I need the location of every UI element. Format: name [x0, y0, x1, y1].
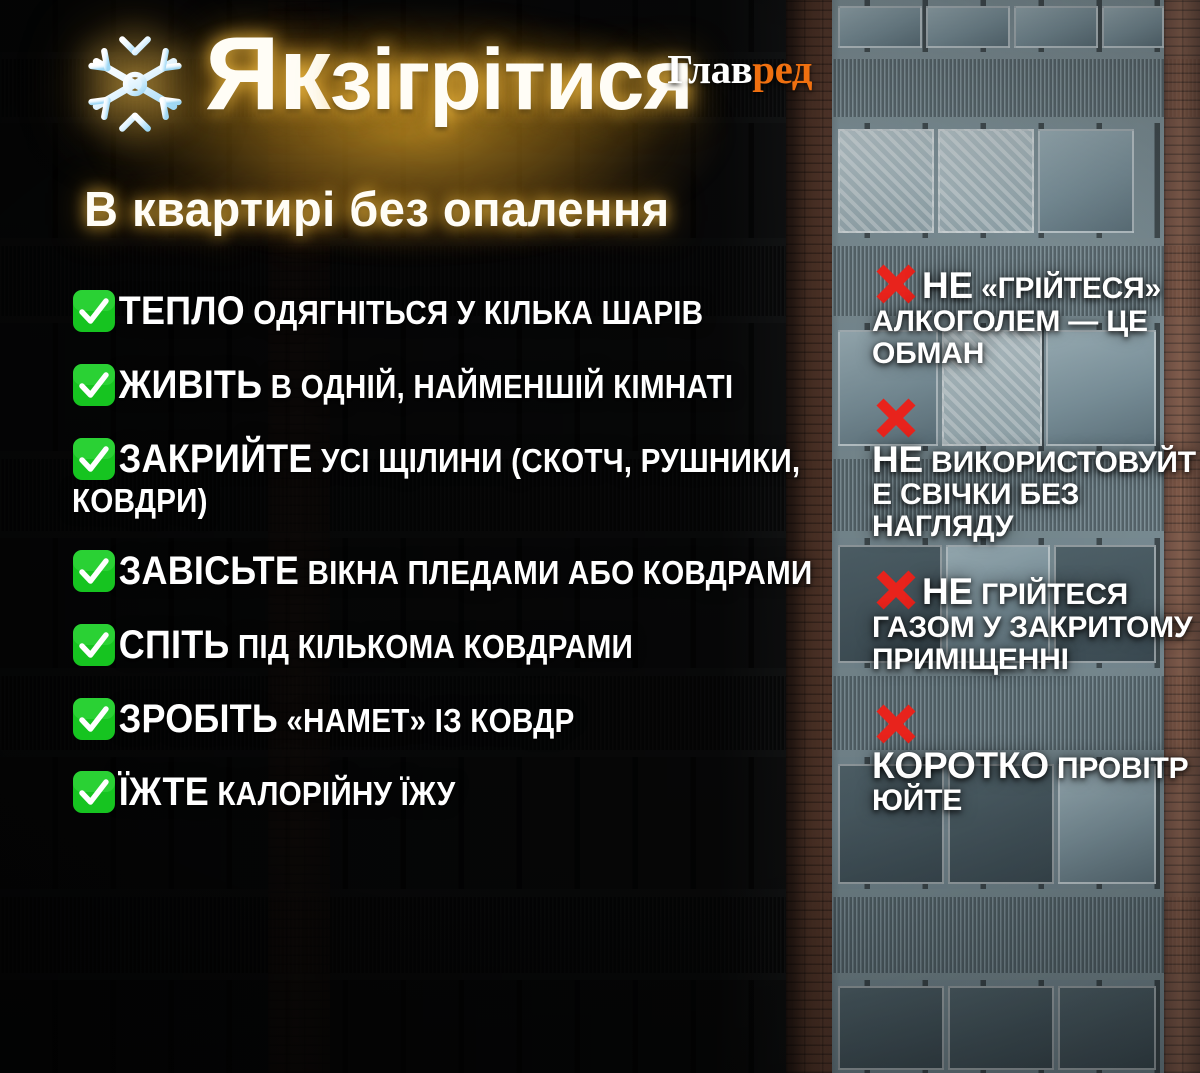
title-rest: зігрітися	[330, 32, 693, 128]
cross-mark-icon	[872, 396, 920, 440]
check-mark-button-icon	[72, 437, 116, 481]
list-item: Завісьте вікна пледами або ковдрами	[72, 548, 862, 595]
infographic-poster: Якзігрітися В квартирі без опалення Глав…	[0, 0, 1200, 1073]
item-lead: Зробіть	[119, 697, 278, 741]
item-rest: одягніться у кілька шарів	[253, 294, 703, 331]
cross-mark-icon	[872, 568, 920, 612]
check-mark-button-icon	[72, 549, 116, 593]
check-mark-button-icon	[72, 623, 116, 667]
do-list: Тепло одягніться у кілька шарів Живіть в…	[72, 288, 862, 843]
list-item: Не використовуйте свічки без нагляду	[872, 396, 1200, 543]
item-lead: Тепло	[119, 289, 245, 333]
item-rest: в одній, найменшій кімнаті	[271, 368, 734, 405]
check-mark-button-icon	[72, 289, 116, 333]
item-lead: Спіть	[119, 623, 230, 667]
check-mark-button-icon	[72, 363, 116, 407]
logo-text-orange: ред	[752, 46, 812, 92]
list-item: Тепло одягніться у кілька шарів	[72, 288, 862, 335]
page-title: Якзігрітися	[205, 22, 693, 126]
item-lead: Завісьте	[119, 549, 299, 593]
item-lead: Закрийте	[119, 437, 313, 481]
item-lead: Не	[922, 265, 973, 306]
list-item: Живіть в одній, найменшій кімнаті	[72, 362, 862, 409]
item-rest: калорійну їжу	[217, 775, 455, 812]
logo-text-white: Глав	[667, 46, 752, 92]
page-subtitle: В квартирі без опалення	[84, 182, 670, 238]
list-item: Коротко провітрюйте	[872, 702, 1200, 817]
list-item: Не грійтеся газом у закритому приміщенні	[872, 568, 1200, 676]
dont-list: Не «грійтеся» алкоголем — це обман Не ви…	[872, 262, 1200, 843]
list-item: Їжте калорійну їжу	[72, 769, 862, 816]
glavred-logo[interactable]: Главред	[667, 45, 812, 93]
cross-mark-icon	[872, 702, 920, 746]
item-rest: «намет» із ковдр	[286, 702, 574, 739]
check-mark-button-icon	[72, 770, 116, 814]
list-item: Зробіть «намет» із ковдр	[72, 696, 862, 743]
item-rest: вікна пледами або ковдрами	[307, 554, 812, 591]
item-lead: Їжте	[119, 770, 209, 814]
item-rest: грійтеся газом у закритому приміщенні	[872, 578, 1192, 676]
list-item: Не «грійтеся» алкоголем — це обман	[872, 262, 1200, 370]
item-rest: під кількома ковдрами	[238, 628, 633, 665]
item-lead: Живіть	[119, 363, 262, 407]
item-lead: Не	[872, 439, 923, 480]
check-mark-button-icon	[72, 697, 116, 741]
list-item: Закрийте усі щілини (скотч, рушники, ков…	[72, 436, 862, 521]
title-lead: Як	[205, 16, 330, 132]
cross-mark-icon	[872, 262, 920, 306]
item-lead: Не	[922, 571, 973, 612]
snowflake-icon	[82, 28, 188, 140]
item-lead: Коротко	[872, 745, 1049, 786]
list-item: Спіть під кількома ковдрами	[72, 622, 862, 669]
